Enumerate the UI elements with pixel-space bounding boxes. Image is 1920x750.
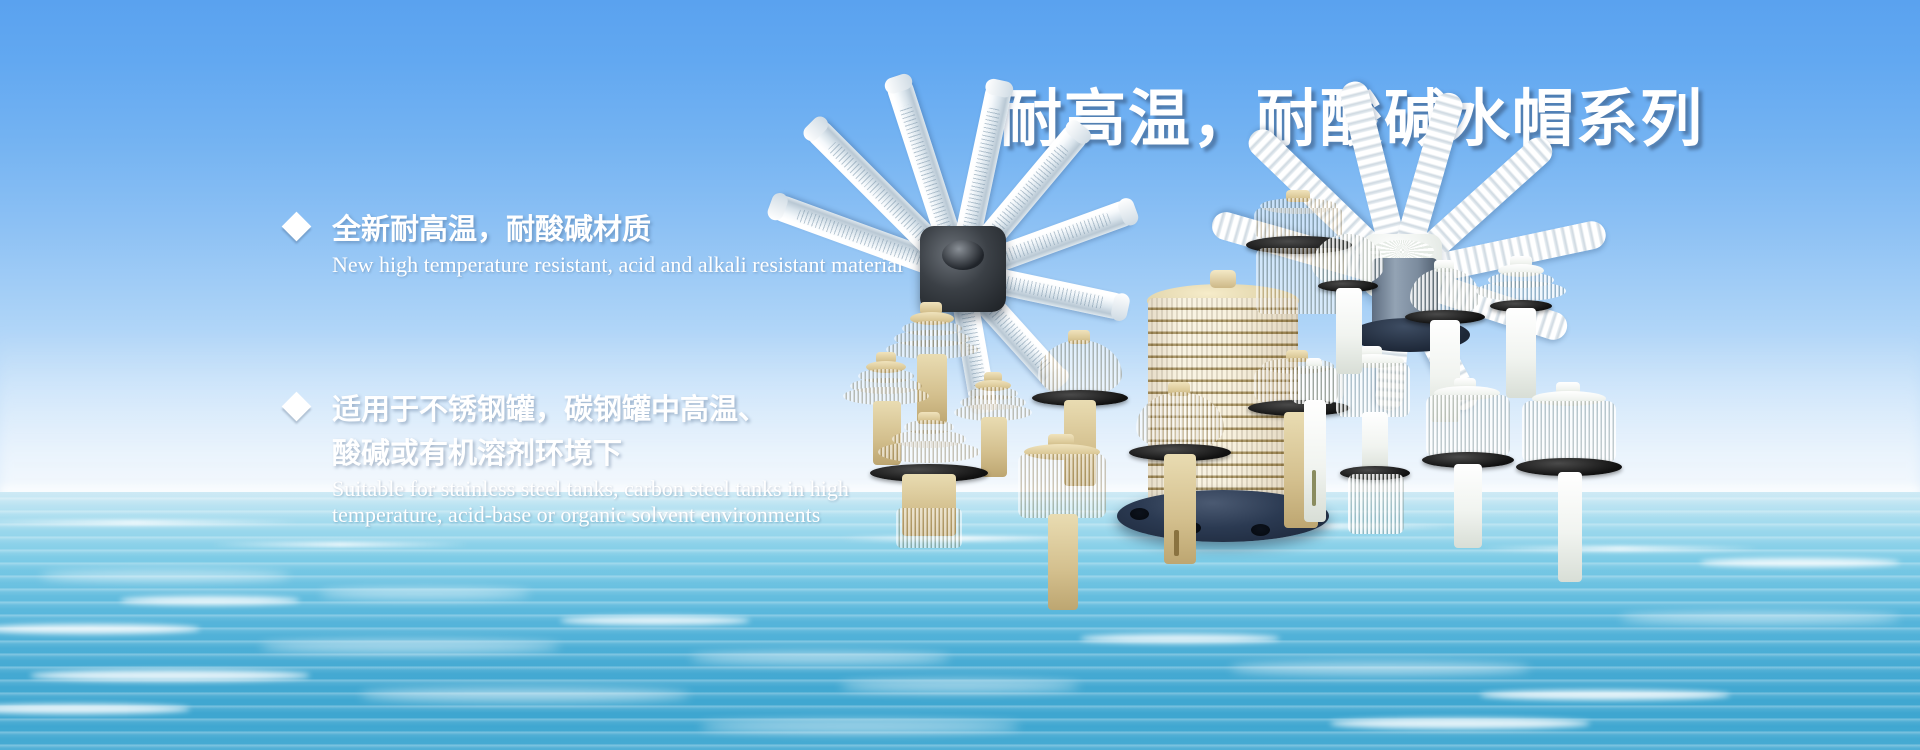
feature-2-en-line-2: temperature, acid-base or organic solven… <box>332 502 849 528</box>
feature-2-cn-line-2: 酸碱或有机溶剂环境下 <box>332 432 849 476</box>
radial-hub-dark <box>920 226 1006 312</box>
feature-2-cn-line-1: 适用于不锈钢罐，碳钢罐中高温、 <box>332 388 849 432</box>
diamond-bullet-icon <box>282 212 312 242</box>
promo-banner: 耐高温，耐酸碱水帽系列 全新耐高温，耐酸碱材质 New high tempera… <box>0 0 1920 750</box>
feature-2-en-line-1: Suitable for stainless steel tanks, carb… <box>332 476 849 502</box>
feature-bullet-2: 适用于不锈钢罐，碳钢罐中高温、 酸碱或有机溶剂环境下 Suitable for … <box>286 388 849 528</box>
water-cap-filter-nozzle-product-group <box>860 150 1920 670</box>
feature-1-en-line-1: New high temperature resistant, acid and… <box>332 252 903 278</box>
diamond-bullet-icon <box>282 392 312 422</box>
